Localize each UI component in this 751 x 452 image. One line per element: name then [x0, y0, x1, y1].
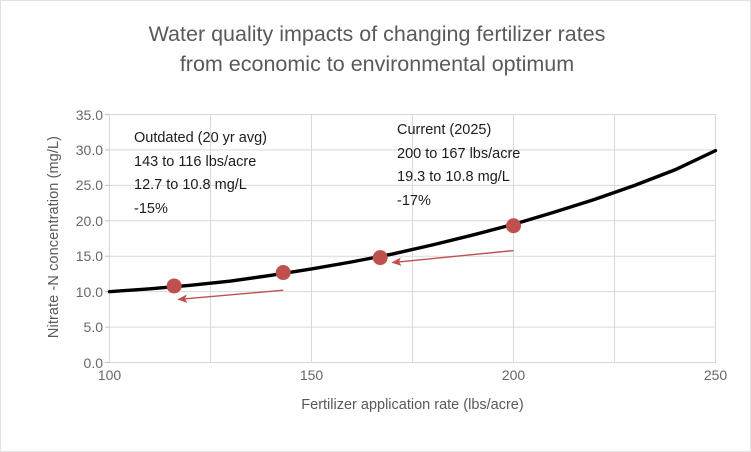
data-point-marker: [506, 218, 521, 233]
annotation-current: Current (2025) 200 to 167 lbs/acre 19.3 …: [397, 119, 520, 213]
data-point-marker: [276, 265, 291, 280]
plot-area: [1, 1, 751, 452]
data-point-marker: [373, 250, 388, 265]
data-point-marker: [167, 278, 182, 293]
chart-container: Water quality impacts of changing fertil…: [0, 0, 751, 452]
annotation-outdated: Outdated (20 yr avg) 143 to 116 lbs/acre…: [134, 127, 267, 221]
axis-ticks: [105, 115, 110, 363]
